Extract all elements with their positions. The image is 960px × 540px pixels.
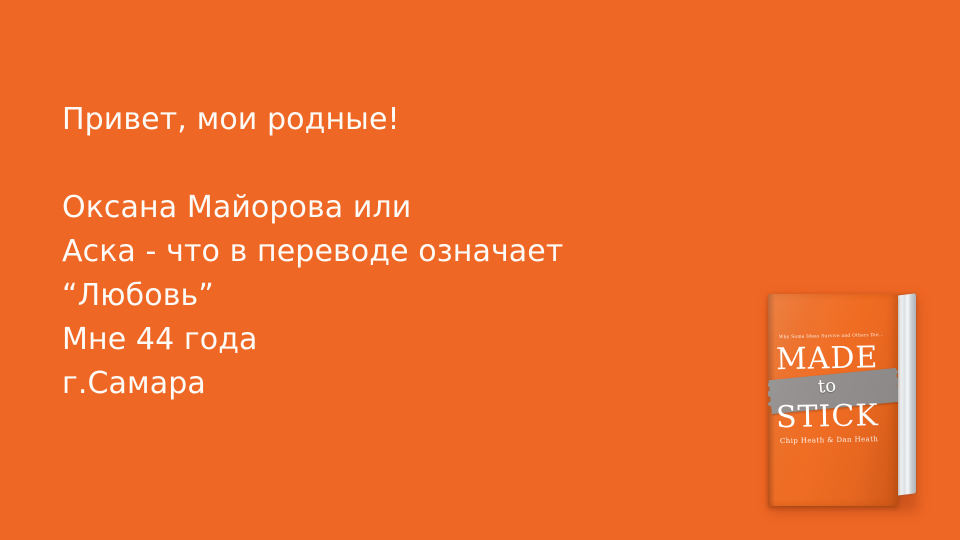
tape-torn-edge-right bbox=[890, 367, 898, 402]
text-line-nickname: Аска - что в переводе означает bbox=[62, 230, 702, 274]
text-line-age: Мне 44 года bbox=[62, 318, 702, 362]
book-title-stick: STICK bbox=[776, 401, 895, 433]
text-line-meaning: “Любовь” bbox=[62, 274, 702, 318]
text-line-name: Оксана Майорова или bbox=[62, 186, 702, 230]
book-image-made-to-stick: Why Some Ideas Survive and Others Die...… bbox=[760, 286, 930, 516]
text-line-greeting: Привет, мои родные! bbox=[62, 98, 702, 142]
slide-canvas: Привет, мои родные! Оксана Майорова или … bbox=[0, 0, 960, 540]
text-line-blank bbox=[62, 142, 702, 186]
book-title-to: to bbox=[817, 377, 836, 396]
book-front-cover: Why Some Ideas Survive and Others Die...… bbox=[768, 294, 898, 506]
intro-text-block: Привет, мои родные! Оксана Майорова или … bbox=[62, 98, 702, 406]
book-authors: Chip Heath & Dan Heath bbox=[780, 435, 892, 445]
text-line-city: г.Самара bbox=[62, 362, 702, 406]
